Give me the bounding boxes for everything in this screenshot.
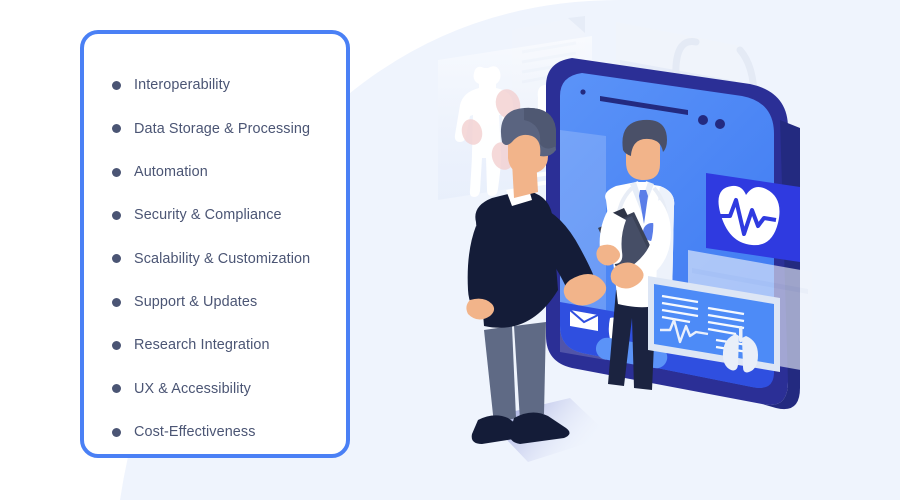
telemedicine-illustration: CONNECT — [420, 0, 900, 500]
list-item[interactable]: Scalability & Customization — [84, 237, 346, 280]
bullet-icon — [112, 211, 121, 220]
bullet-icon — [112, 81, 121, 90]
criteria-card: Interoperability Data Storage & Processi… — [80, 30, 350, 458]
criteria-list: Interoperability Data Storage & Processi… — [84, 34, 346, 454]
bullet-icon — [112, 124, 121, 133]
list-item[interactable]: Support & Updates — [84, 281, 346, 324]
criteria-label: Support & Updates — [134, 295, 257, 309]
illustration-svg: CONNECT — [420, 0, 900, 500]
page-root: Interoperability Data Storage & Processi… — [0, 0, 900, 500]
list-item[interactable]: Cost-Effectiveness — [84, 411, 346, 454]
criteria-label: Cost-Effectiveness — [134, 425, 256, 439]
bullet-icon — [112, 384, 121, 393]
ecg-heart-card — [706, 173, 800, 262]
bullet-icon — [112, 298, 121, 307]
list-item[interactable]: Data Storage & Processing — [84, 107, 346, 150]
list-item[interactable]: Automation — [84, 151, 346, 194]
list-item[interactable]: UX & Accessibility — [84, 367, 346, 410]
criteria-label: Interoperability — [134, 78, 230, 92]
bullet-icon — [112, 341, 121, 350]
criteria-label: Scalability & Customization — [134, 252, 310, 266]
criteria-label: Data Storage & Processing — [134, 122, 310, 136]
list-item[interactable]: Security & Compliance — [84, 194, 346, 237]
list-item[interactable]: Interoperability — [84, 64, 346, 107]
bullet-icon — [112, 254, 121, 263]
criteria-label: Automation — [134, 165, 208, 179]
criteria-label: Research Integration — [134, 338, 270, 352]
criteria-label: Security & Compliance — [134, 208, 282, 222]
list-item[interactable]: Research Integration — [84, 324, 346, 367]
bullet-icon — [112, 168, 121, 177]
bullet-icon — [112, 428, 121, 437]
criteria-label: UX & Accessibility — [134, 382, 251, 396]
